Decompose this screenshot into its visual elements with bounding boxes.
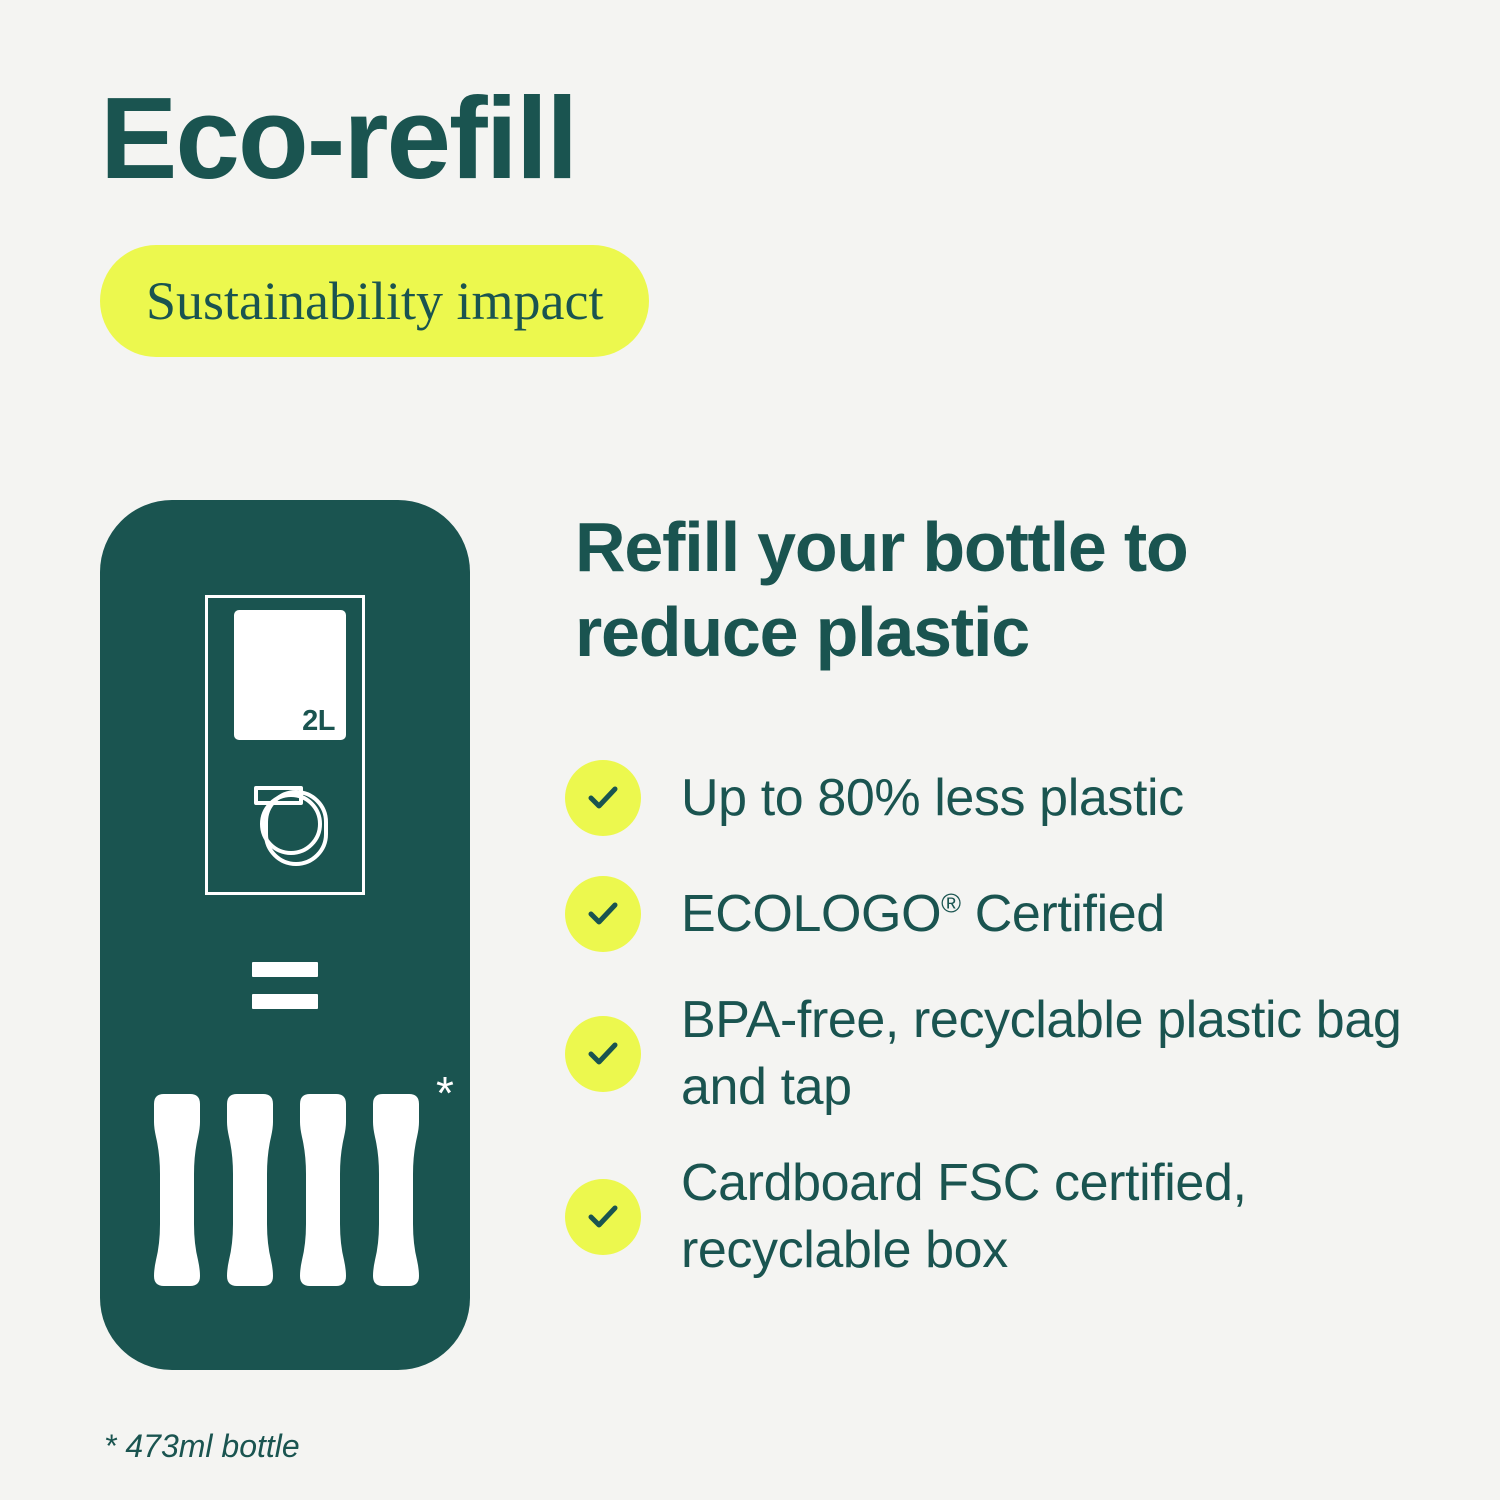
check-icon bbox=[565, 760, 641, 836]
bottle-row bbox=[146, 1092, 436, 1290]
bottle-icon bbox=[292, 1092, 354, 1290]
check-icon bbox=[565, 1016, 641, 1092]
refill-illustration-panel: 2L * bbox=[100, 500, 470, 1370]
main-heading-line-1: Refill your bottle to bbox=[575, 508, 1188, 586]
bottle-icon bbox=[146, 1092, 208, 1290]
benefit-label: Cardboard FSC certified, recyclable box bbox=[681, 1150, 1465, 1283]
list-item: Cardboard FSC certified, recyclable box bbox=[565, 1150, 1465, 1283]
check-icon bbox=[565, 876, 641, 952]
benefits-list: Up to 80% less plastic ECOLOGO® Certifie… bbox=[565, 755, 1465, 1313]
badge-label: Sustainability impact bbox=[146, 274, 603, 328]
refill-volume-label: 2L bbox=[302, 707, 335, 736]
equals-bar-bottom bbox=[252, 994, 318, 1009]
tap-spigot-icon bbox=[236, 766, 341, 876]
eco-refill-infographic: Eco-refill Sustainability impact 2L bbox=[0, 0, 1500, 1500]
equals-bar-top bbox=[252, 962, 318, 977]
list-item: ECOLOGO® Certified bbox=[565, 871, 1465, 957]
benefit-label: Up to 80% less plastic bbox=[681, 765, 1184, 832]
benefit-label: ECOLOGO bbox=[681, 885, 941, 943]
refill-pouch-graphic: 2L bbox=[234, 610, 346, 740]
benefit-label: BPA-free, recyclable plastic bag and tap bbox=[681, 987, 1465, 1120]
main-heading: Refill your bottle to reduce plastic bbox=[575, 505, 1365, 676]
registered-trademark-symbol: ® bbox=[941, 888, 961, 918]
refill-box-frame: 2L bbox=[205, 595, 365, 895]
bottle-icon bbox=[365, 1092, 427, 1290]
footnote-asterisk: * bbox=[436, 1070, 454, 1116]
sustainability-impact-badge: Sustainability impact bbox=[100, 245, 649, 357]
equals-sign-icon bbox=[252, 962, 318, 1012]
list-item: Up to 80% less plastic bbox=[565, 755, 1465, 841]
benefit-label-ecologo: ECOLOGO® Certified bbox=[681, 881, 1165, 948]
footnote-text: * 473ml bottle bbox=[104, 1430, 300, 1462]
page-title: Eco-refill bbox=[100, 80, 576, 196]
check-icon bbox=[565, 1179, 641, 1255]
benefit-label-suffix: Certified bbox=[961, 885, 1165, 943]
main-heading-line-2: reduce plastic bbox=[575, 593, 1029, 671]
list-item: BPA-free, recyclable plastic bag and tap bbox=[565, 987, 1465, 1120]
bottle-icon bbox=[219, 1092, 281, 1290]
